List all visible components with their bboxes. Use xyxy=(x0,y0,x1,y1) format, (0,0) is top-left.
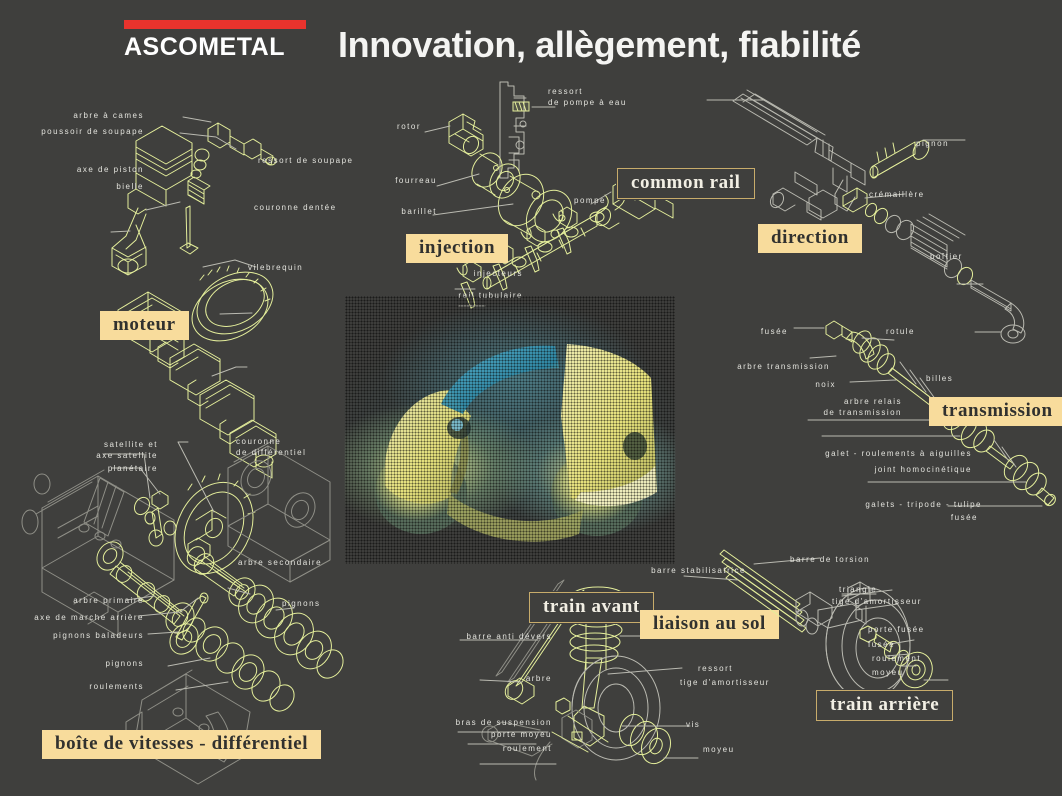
label-barre-de-torsion: barre de torsion xyxy=(790,555,870,565)
label-poussoir-de-soupape: poussoir de soupape xyxy=(14,127,144,137)
label-tige-amortisseur-arriere: tige d'amortisseur xyxy=(832,597,922,607)
label-arbre-relais: arbre relais xyxy=(780,397,902,407)
label-arbre-transmission: arbre transmission xyxy=(710,362,830,372)
label-axe-marche-arriere: axe de marche arrière xyxy=(14,613,144,623)
label-arbre-secondaire: arbre secondaire xyxy=(238,558,322,568)
label-ressort-de-soupape: ressort de soupape xyxy=(258,156,354,166)
hero-car-image xyxy=(345,296,675,564)
badge-train-avant[interactable]: train avant xyxy=(529,592,654,623)
label-pignons: pignons xyxy=(62,659,144,669)
label-vis: vis xyxy=(686,720,700,730)
label-pignons-secondaire: pignons xyxy=(282,599,321,609)
label-porte-moyeu: porte moyeu xyxy=(440,730,552,740)
badge-transmission[interactable]: transmission xyxy=(929,397,1062,426)
hero-halftone-overlay xyxy=(345,296,675,564)
label-pompe: pompe xyxy=(556,196,606,206)
poster: ASCOMETAL Innovation, allègement, fiabil… xyxy=(0,0,1062,796)
ascometal-logo: ASCOMETAL xyxy=(124,20,306,61)
label-de-transmission: de transmission xyxy=(780,408,902,418)
badge-moteur[interactable]: moteur xyxy=(100,311,189,340)
label-galets-tripode-tulipe: galets - tripode - tulipe xyxy=(790,500,982,510)
label-boitier: boîtier xyxy=(930,252,963,262)
label-rotor: rotor xyxy=(375,122,421,132)
badge-injection[interactable]: injection xyxy=(406,234,508,263)
label-couronne: couronne xyxy=(236,437,281,447)
logo-wordmark: ASCOMETAL xyxy=(124,33,306,61)
label-axe-de-piston: axe de piston xyxy=(24,165,144,175)
label-pignon: pignon xyxy=(916,139,949,149)
label-arbre-primaire: arbre primaire xyxy=(22,596,144,606)
label-porte-fusee: porte fusée xyxy=(868,625,925,635)
label-barre-stabilisatrice: barre stabilisatrice xyxy=(620,566,746,576)
label-cremaillere: crémaillère xyxy=(869,190,925,200)
label-barre-anti-devers: barre anti dévers xyxy=(440,632,552,642)
label-billes: billes xyxy=(926,374,953,384)
label-bielle: bielle xyxy=(34,182,144,192)
label-fourreau: fourreau xyxy=(359,176,437,186)
steering-diagram xyxy=(725,88,1055,338)
label-fusee-arriere: fusée xyxy=(868,640,895,650)
label-de-differentiel: de différentiel xyxy=(236,448,306,458)
label-injecteurs: injecteurs xyxy=(447,269,523,279)
label-vilebrequin: vilebrequin xyxy=(248,263,303,273)
label-galet-roulements-aiguilles: galet - roulements à aiguilles xyxy=(740,449,972,459)
badge-boite-de-vitesses[interactable]: boîte de vitesses - différentiel xyxy=(42,730,321,759)
label-bras-de-suspension: bras de suspension xyxy=(430,718,552,728)
label-arbre-a-cames: arbre à cames xyxy=(24,111,144,121)
label-roulements: roulements xyxy=(52,682,144,692)
label-triangle: triangle xyxy=(839,585,877,595)
label-ressort-pompe-eau-2: de pompe à eau xyxy=(548,98,627,108)
label-ressort-pompe-eau-1: ressort xyxy=(548,87,583,97)
label-barillet: barillet xyxy=(369,207,437,217)
badge-direction[interactable]: direction xyxy=(758,224,862,253)
label-planetaire: planétaire xyxy=(50,464,158,474)
badge-train-arriere[interactable]: train arrière xyxy=(816,690,953,721)
page-title: Innovation, allègement, fiabilité xyxy=(338,24,861,66)
label-pignons-baladeurs: pignons baladeurs xyxy=(22,631,144,641)
label-axe-satellite: axe satellite xyxy=(40,451,158,461)
label-noix: noix xyxy=(790,380,836,390)
label-moyeu-arriere: moyeu xyxy=(872,668,904,678)
logo-red-bar xyxy=(124,20,306,29)
label-roulement-avant: roulement xyxy=(450,744,552,754)
label-roulement-arriere: roulement xyxy=(872,654,921,664)
label-moyeu-avant: moyeu xyxy=(703,745,735,755)
label-arbre: arbre xyxy=(490,674,552,684)
label-couronne-dentee: couronne dentée xyxy=(254,203,337,213)
poster-header: ASCOMETAL Innovation, allègement, fiabil… xyxy=(0,0,1062,78)
label-fusee-transmission-2: fusée xyxy=(920,513,978,523)
label-satellite-et: satellite et xyxy=(40,440,158,450)
label-joint-homocinetique: joint homocinétique xyxy=(760,465,972,475)
label-fusee-transmission: fusée xyxy=(730,327,788,337)
